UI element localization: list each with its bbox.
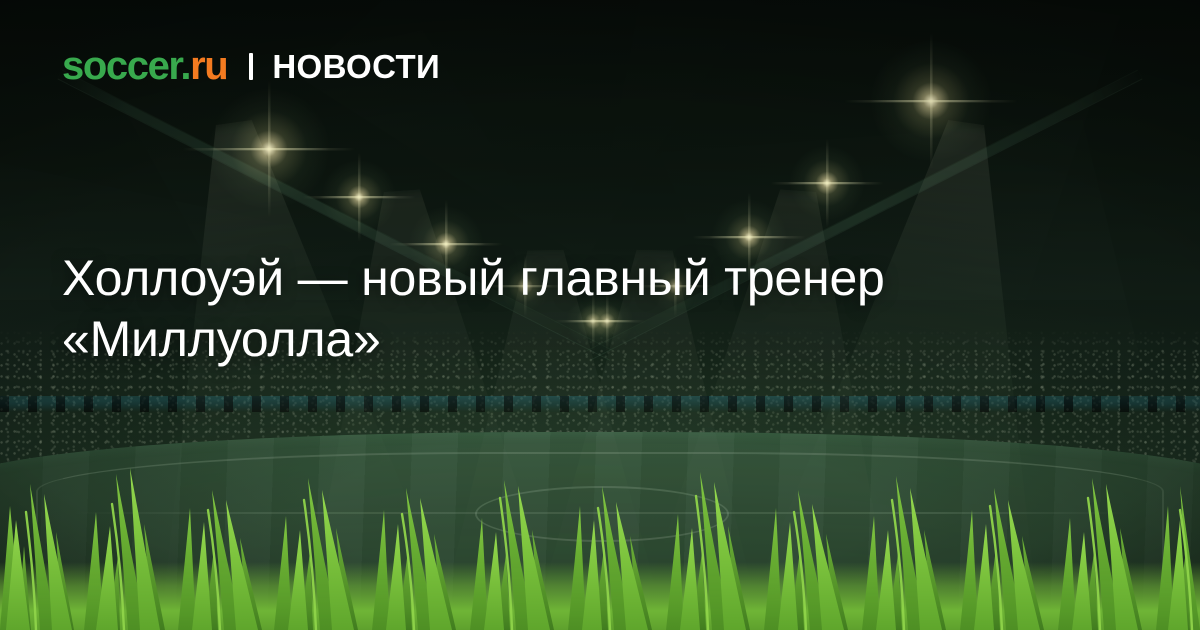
grass-blades-svg	[0, 460, 1200, 630]
floodlight-flare-left-2	[358, 196, 360, 198]
logo-tld-text: ru	[190, 44, 227, 88]
foreground-grass	[0, 460, 1200, 630]
soccer-ru-logo[interactable]: soccer.ru	[62, 46, 227, 86]
floodlight-flare-left-1	[268, 148, 270, 150]
logo-dot-text: .	[180, 44, 190, 88]
section-label: НОВОСТИ	[272, 50, 440, 83]
news-share-card: soccer.ru НОВОСТИ Холлоуэй — новый главн…	[0, 0, 1200, 630]
floodlight-flare-right-1	[930, 100, 932, 102]
header-divider	[249, 53, 253, 80]
floodlight-flare-right-2	[826, 182, 828, 184]
upper-tier-facade-band	[0, 396, 1200, 412]
logo-name-text: soccer	[62, 44, 180, 88]
floodlight-flare-right-3	[748, 236, 750, 238]
roof-facet-1	[300, 0, 760, 260]
brand-header: soccer.ru НОВОСТИ	[62, 46, 440, 86]
floodlight-flare-left-3	[445, 243, 447, 245]
page-title: Холлоуэй — новый главный тренер «Миллуол…	[62, 248, 1122, 370]
